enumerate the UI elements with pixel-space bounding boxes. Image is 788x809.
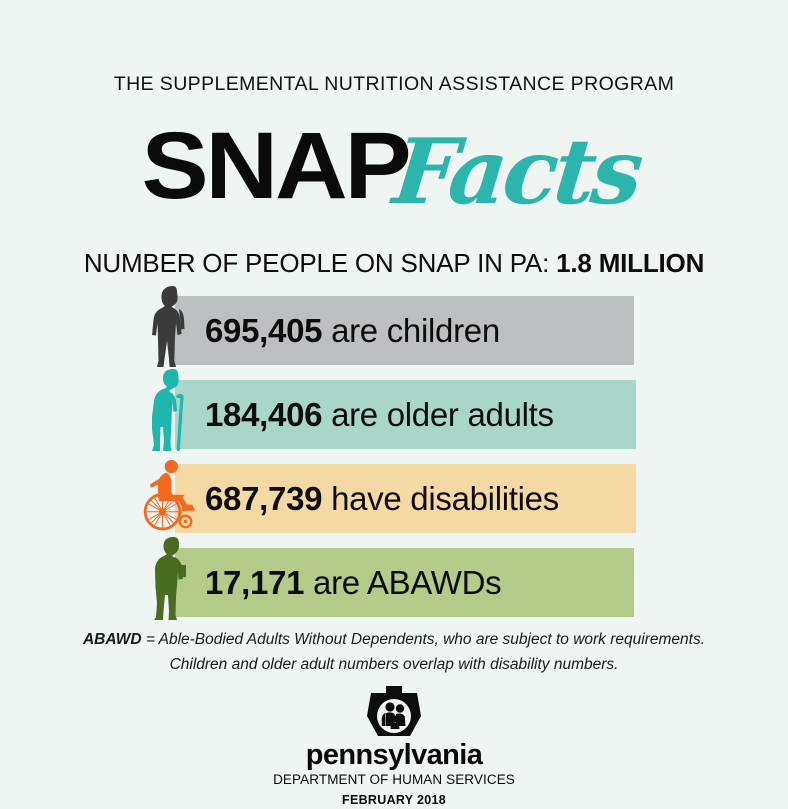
- wheelchair-user-icon: [143, 451, 205, 537]
- footnote-line-1: ABAWD = Able-Bodied Adults Without Depen…: [0, 627, 788, 652]
- table-row: 17,171 are ABAWDs: [0, 548, 788, 617]
- eyebrow-text: THE SUPPLEMENTAL NUTRITION ASSISTANCE PR…: [0, 73, 788, 96]
- bar-value-children: 695,405: [205, 312, 322, 349]
- subtitle-value: 1.8 MILLION: [556, 248, 704, 278]
- infographic-page: THE SUPPLEMENTAL NUTRITION ASSISTANCE PR…: [0, 0, 788, 788]
- footnote-line-2: Children and older adult numbers overlap…: [0, 652, 788, 677]
- bar-label-abawds: 17,171 are ABAWDs: [205, 548, 501, 617]
- footnotes: ABAWD = Able-Bodied Adults Without Depen…: [0, 627, 788, 677]
- bar-value-older-adults: 184,406: [205, 396, 322, 433]
- bar-text-disabilities: have disabilities: [331, 480, 559, 517]
- bar-text-older-adults: are older adults: [331, 396, 554, 433]
- bar-label-disabilities: 687,739 have disabilities: [205, 464, 559, 533]
- agency-department-name: DEPARTMENT OF HUMAN SERVICES: [0, 770, 788, 789]
- bar-value-disabilities: 687,739: [205, 480, 322, 517]
- publication-date: FEBRUARY 2018: [0, 791, 788, 809]
- subtitle: NUMBER OF PEOPLE ON SNAP IN PA: 1.8 MILL…: [0, 248, 788, 279]
- logo-facts-word: Facts: [388, 118, 644, 226]
- table-row: 184,406 are older adults: [0, 380, 788, 449]
- table-row: 695,405 are children: [0, 296, 788, 365]
- footnote-abbr: ABAWD: [83, 631, 142, 648]
- snapfacts-logo: SNAPFacts: [0, 112, 788, 220]
- subtitle-lead: NUMBER OF PEOPLE ON SNAP IN PA:: [84, 248, 549, 278]
- agency-state-name: pennsylvania: [0, 740, 788, 770]
- bar-text-abawds: are ABAWDs: [313, 564, 501, 601]
- standing-adult-icon: [143, 535, 205, 621]
- older-adult-with-cane-icon: [143, 367, 205, 453]
- bar-text-children: are children: [331, 312, 500, 349]
- table-row: 687,739 have disabilities: [0, 464, 788, 533]
- bar-label-children: 695,405 are children: [205, 296, 500, 365]
- child-silhouette-icon: [143, 283, 205, 369]
- bar-chart: 695,405 are children 184,406 are: [0, 296, 788, 632]
- footnote-definition: = Able-Bodied Adults Without Dependents,…: [142, 631, 705, 648]
- bar-label-older-adults: 184,406 are older adults: [205, 380, 554, 449]
- logo-snap-word: SNAP: [141, 112, 408, 220]
- bar-value-abawds: 17,171: [205, 564, 304, 601]
- agency-footer: pennsylvania DEPARTMENT OF HUMAN SERVICE…: [0, 686, 788, 809]
- pennsylvania-keystone-icon: [365, 686, 423, 738]
